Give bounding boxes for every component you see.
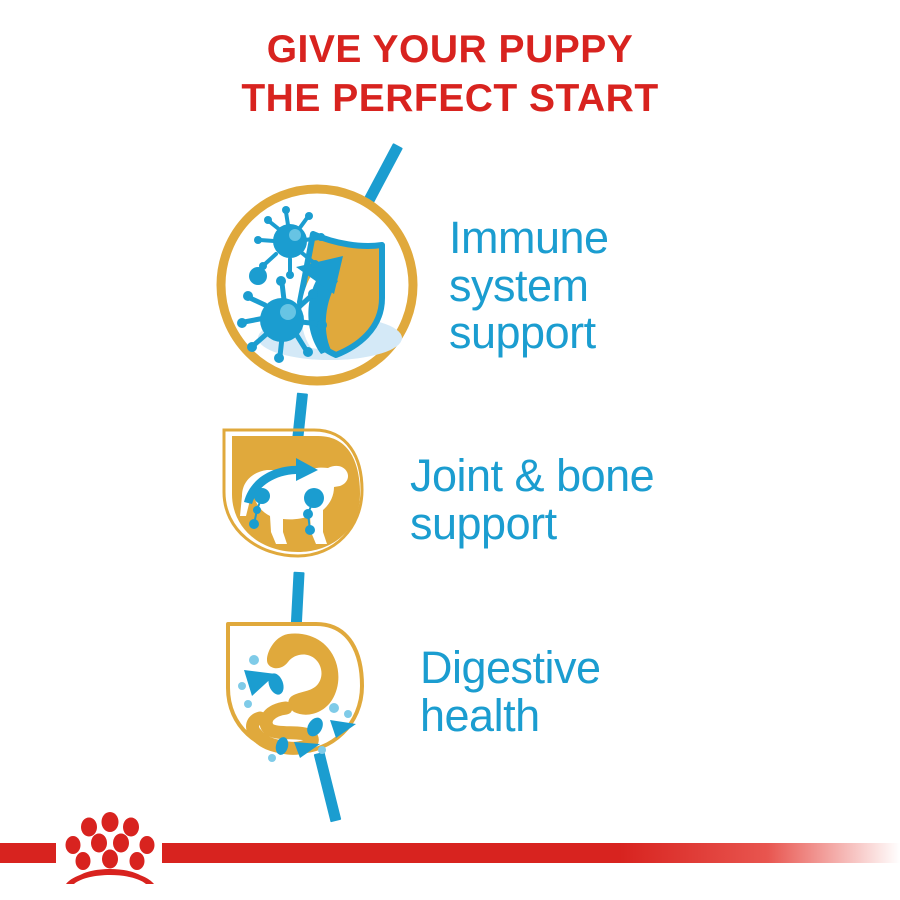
joint-marker-hip [304, 488, 324, 508]
feature-label-immune: Immune system support [449, 214, 609, 357]
joint-marker-elbow [253, 506, 261, 514]
digestive-stomach-icon [210, 612, 375, 772]
virus-large-highlight [280, 304, 296, 320]
footer-bar-left-segment [0, 843, 56, 863]
joint-bone-dog-icon [210, 420, 375, 580]
virus-small-highlight [289, 229, 301, 241]
intestine-tail [253, 718, 260, 734]
joint-marker-paw-front [249, 519, 259, 529]
joint-marker-shoulder [254, 488, 270, 504]
joint-marker-knee [303, 509, 313, 519]
feature-row-digestive: Digestive health [210, 612, 601, 772]
joint-marker-paw-rear [305, 525, 315, 535]
royal-canin-crown-logo [58, 812, 162, 886]
headline-line-1: GIVE YOUR PUPPY [0, 26, 900, 75]
joint-bone-dog-icon-svg [210, 420, 375, 580]
footer-bar-right-segment [162, 843, 900, 863]
digestive-stomach-icon-svg [210, 612, 375, 772]
immune-shield-icon [210, 178, 425, 393]
crown-dots [66, 812, 155, 870]
crown-logo-svg [58, 812, 162, 886]
immune-shield-icon-svg [210, 178, 425, 393]
virus-large-core [260, 298, 304, 342]
page-title: GIVE YOUR PUPPY THE PERFECT START [0, 26, 900, 124]
feature-label-joint: Joint & bone support [410, 452, 654, 547]
poster-canvas: GIVE YOUR PUPPY THE PERFECT START [0, 0, 900, 900]
feature-row-joint: Joint & bone support [210, 420, 654, 580]
feature-label-digestive: Digestive health [420, 644, 601, 739]
virus-dot [249, 267, 267, 285]
virus-small-core [273, 224, 307, 258]
headline-line-2: THE PERFECT START [0, 75, 900, 124]
feature-row-immune: Immune system support [210, 178, 609, 393]
